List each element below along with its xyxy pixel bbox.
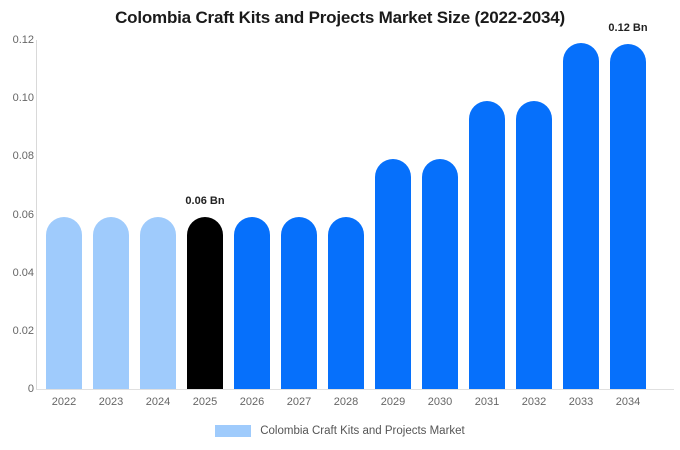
bar-2031[interactable] bbox=[469, 101, 505, 389]
legend-swatch-colombia-craft-kits-and-projects-market bbox=[215, 425, 251, 437]
bar-slot bbox=[563, 40, 599, 389]
bar-slot bbox=[516, 40, 552, 389]
bar-slot bbox=[328, 40, 364, 389]
y-axis-tick-0.12: 0.12 bbox=[2, 34, 34, 46]
bar-slot bbox=[234, 40, 270, 389]
y-axis-tick-0.02: 0.02 bbox=[2, 325, 34, 337]
plot-area bbox=[36, 40, 674, 389]
bar-slot bbox=[281, 40, 317, 389]
bar-slot bbox=[140, 40, 176, 389]
bar-slot bbox=[610, 40, 646, 389]
bar-2032[interactable] bbox=[516, 101, 552, 389]
bar-2026[interactable] bbox=[234, 217, 270, 389]
bar-2029[interactable] bbox=[375, 159, 411, 389]
legend-label: Colombia Craft Kits and Projects Market bbox=[260, 425, 465, 437]
bar-2028[interactable] bbox=[328, 217, 364, 389]
bar-2033[interactable] bbox=[563, 43, 599, 389]
x-axis-tick-2034: 2034 bbox=[598, 396, 658, 408]
bar-2025[interactable] bbox=[187, 217, 223, 389]
bar-chart: Colombia Craft Kits and Projects Market … bbox=[0, 0, 680, 450]
annotation-2034: 0.12 Bn bbox=[588, 22, 668, 34]
y-axis-tick-0.08: 0.08 bbox=[2, 150, 34, 162]
bar-2022[interactable] bbox=[46, 217, 82, 389]
y-axis-tick-0.04: 0.04 bbox=[2, 267, 34, 279]
annotation-2025: 0.06 Bn bbox=[165, 195, 245, 207]
chart-legend: Colombia Craft Kits and Projects Market bbox=[0, 425, 680, 437]
bar-slot bbox=[46, 40, 82, 389]
bar-slot bbox=[375, 40, 411, 389]
bar-2034[interactable] bbox=[610, 44, 646, 389]
bar-2024[interactable] bbox=[140, 217, 176, 389]
bar-slot bbox=[469, 40, 505, 389]
bar-slot bbox=[187, 40, 223, 389]
bar-slot bbox=[422, 40, 458, 389]
bar-2023[interactable] bbox=[93, 217, 129, 389]
y-axis-tick-0: 0 bbox=[2, 383, 34, 395]
x-axis-line bbox=[36, 389, 674, 390]
y-axis-tick-0.06: 0.06 bbox=[2, 209, 34, 221]
chart-title: Colombia Craft Kits and Projects Market … bbox=[0, 8, 680, 28]
bar-2027[interactable] bbox=[281, 217, 317, 389]
y-axis-tick-0.10: 0.10 bbox=[2, 92, 34, 104]
bar-2030[interactable] bbox=[422, 159, 458, 389]
y-axis-tick-labels: 00.020.040.060.080.100.12 bbox=[0, 0, 34, 450]
bar-slot bbox=[93, 40, 129, 389]
